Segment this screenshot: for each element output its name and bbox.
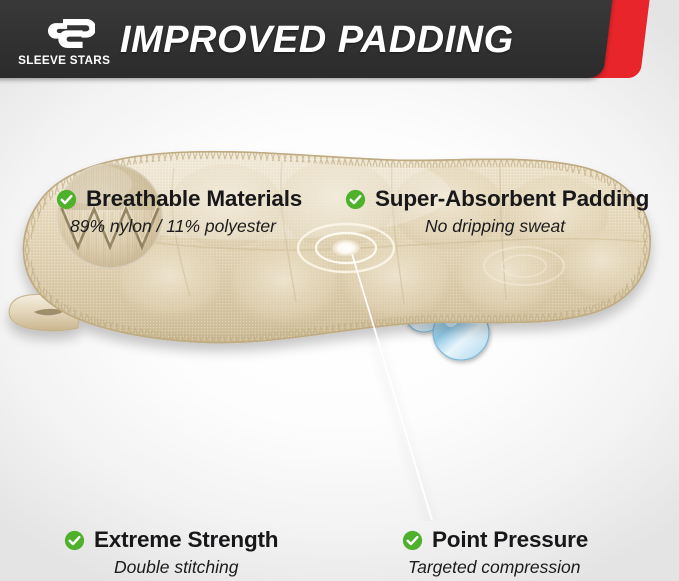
sleeve-stars-s-monogram-icon xyxy=(33,14,95,54)
green-check-circle-icon xyxy=(402,530,423,551)
green-check-circle-icon xyxy=(345,189,366,210)
feature-breathable-materials: Breathable Materials 89% nylon / 11% pol… xyxy=(56,186,302,237)
feature-point-pressure: Point Pressure Targeted compression xyxy=(402,527,588,578)
feature-extreme-strength: Extreme Strength Double stitching xyxy=(64,527,278,578)
product-illustration xyxy=(0,96,679,521)
feature-title: Super-Absorbent Padding xyxy=(375,186,649,212)
brand-logo: SLEEVE STARS xyxy=(22,9,106,71)
feature-subtitle: Targeted compression xyxy=(408,557,588,578)
brand-wordmark: SLEEVE STARS xyxy=(18,55,110,67)
feature-title: Breathable Materials xyxy=(86,186,302,212)
green-check-circle-icon xyxy=(56,189,77,210)
feature-subtitle: No dripping sweat xyxy=(425,216,649,237)
feature-super-absorbent-padding: Super-Absorbent Padding No dripping swea… xyxy=(345,186,649,237)
green-check-circle-icon xyxy=(64,530,85,551)
feature-subtitle: Double stitching xyxy=(114,557,278,578)
feature-title: Point Pressure xyxy=(432,527,588,553)
feature-subtitle: 89% nylon / 11% polyester xyxy=(70,216,302,237)
feature-title: Extreme Strength xyxy=(94,527,278,553)
page-title: IMPROVED PADDING xyxy=(120,19,514,62)
header-banner: SLEEVE STARS IMPROVED PADDING xyxy=(0,0,679,92)
